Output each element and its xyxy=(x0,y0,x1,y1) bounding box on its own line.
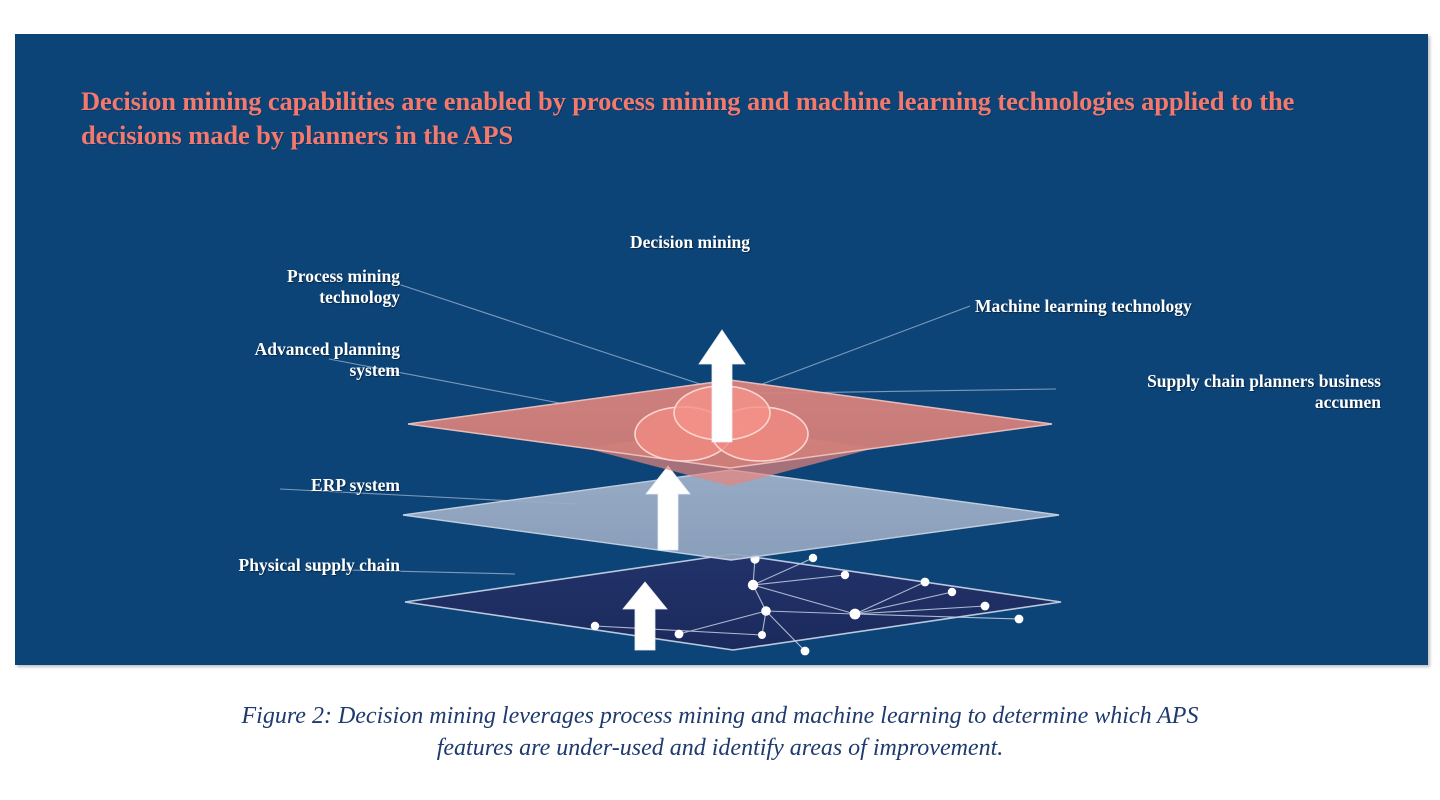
label-advanced-planning-system: Advanced planning system xyxy=(95,339,400,382)
figure-caption: Figure 2: Decision mining leverages proc… xyxy=(220,700,1220,765)
network-node xyxy=(921,578,930,587)
figure-root: Decision mining capabilities are enabled… xyxy=(0,0,1440,800)
network-node xyxy=(981,602,990,611)
figure-panel: Decision mining capabilities are enabled… xyxy=(15,34,1428,665)
physical-supply-chain-plane xyxy=(405,554,1061,650)
network-node xyxy=(809,554,817,562)
label-decision-mining: Decision mining xyxy=(575,232,805,253)
network-node xyxy=(801,647,810,656)
network-node xyxy=(675,630,684,639)
label-process-mining-technology: Process mining technology xyxy=(165,266,400,309)
network-node xyxy=(748,580,758,590)
label-machine-learning-technology: Machine learning technology xyxy=(975,296,1315,317)
network-node xyxy=(850,609,861,620)
layer-physical-supply-chain[interactable] xyxy=(405,554,1061,656)
network-node xyxy=(1015,615,1024,624)
network-node xyxy=(841,571,849,579)
label-supply-chain-planners-business-accumen: Supply chain planners business accumen xyxy=(1061,371,1381,414)
leader-line-process-mining xyxy=(398,284,715,389)
leader-line-machine-learning xyxy=(757,306,970,386)
network-node xyxy=(591,622,599,630)
network-node xyxy=(948,588,956,596)
network-node xyxy=(758,631,766,639)
network-node xyxy=(761,606,771,616)
label-erp-system: ERP system xyxy=(95,475,400,496)
label-physical-supply-chain: Physical supply chain xyxy=(75,555,400,576)
